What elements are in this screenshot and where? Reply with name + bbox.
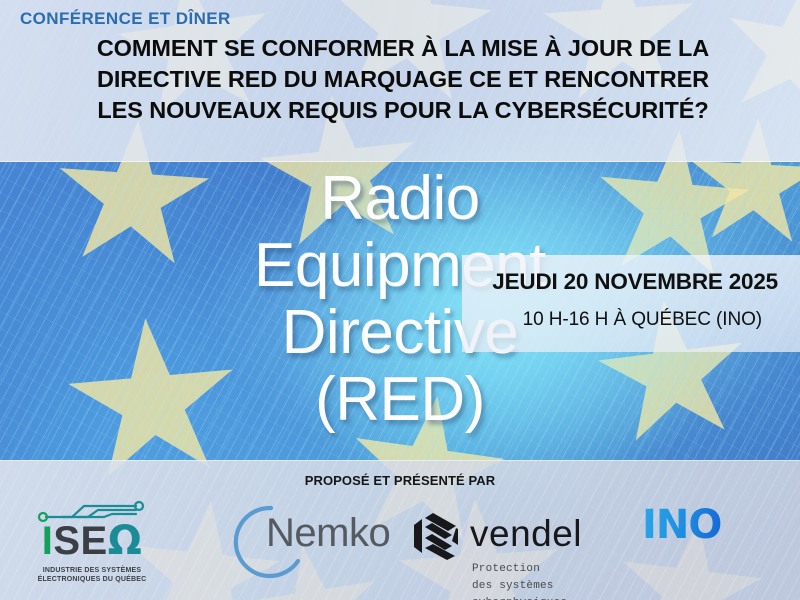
logo-iseq[interactable]: ISEΩ INDUSTRIE DES SYSTÈMES ÉLECTRONIQUE… bbox=[32, 497, 152, 585]
iseq-wordmark: ISEΩ bbox=[32, 521, 152, 561]
vendel-tagline-line-3: cyberphysiques bbox=[472, 595, 567, 600]
proposed-by-label: PROPOSÉ ET PRÉSENTÉ PAR bbox=[0, 473, 800, 488]
event-time-location: 10 H-16 H À QUÉBEC (INO) bbox=[462, 309, 762, 331]
kicker-label: CONFÉRENCE ET DÎNER bbox=[20, 9, 792, 29]
iseq-letter-i: I bbox=[42, 519, 54, 563]
vendel-tagline-line-2: des systèmes bbox=[472, 578, 567, 595]
headline-line-1: COMMENT SE CONFORMER À LA MISE À JOUR DE… bbox=[14, 33, 792, 64]
page-title: COMMENT SE CONFORMER À LA MISE À JOUR DE… bbox=[14, 33, 792, 125]
header-band: CONFÉRENCE ET DÎNER COMMENT SE CONFORMER… bbox=[0, 0, 800, 162]
vendel-hexagon-mark-icon bbox=[408, 509, 464, 565]
event-banner: CONFÉRENCE ET DÎNER COMMENT SE CONFORMER… bbox=[0, 0, 800, 600]
iseq-letters-se: SE bbox=[53, 519, 107, 563]
iseq-tagline-line-2: ÉLECTRONIQUES DU QUÉBEC bbox=[32, 575, 152, 584]
vendel-tagline-line-1: Protection bbox=[472, 561, 567, 578]
headline-line-3: LES NOUVEAUX REQUIS POUR LA CYBERSÉCURIT… bbox=[14, 95, 792, 126]
event-details-panel: JEUDI 20 NOVEMBRE 2025 10 H-16 H À QUÉBE… bbox=[462, 255, 800, 352]
headline-line-2: DIRECTIVE RED DU MARQUAGE CE ET RENCONTR… bbox=[14, 64, 792, 95]
iseq-omega-icon: Ω bbox=[108, 518, 143, 564]
ino-wordmark: INO bbox=[642, 505, 758, 545]
logo-nemko[interactable]: Nemko bbox=[232, 505, 402, 571]
logo-ino[interactable]: INO bbox=[642, 505, 758, 547]
event-date: JEUDI 20 NOVEMBRE 2025 bbox=[462, 269, 778, 295]
vendel-tagline: Protection des systèmes cyberphysiques bbox=[472, 561, 567, 600]
nemko-wordmark: Nemko bbox=[266, 513, 390, 553]
vendel-wordmark: vendel bbox=[470, 515, 582, 552]
iseq-tagline-line-1: INDUSTRIE DES SYSTÈMES bbox=[32, 566, 152, 575]
iseq-tagline: INDUSTRIE DES SYSTÈMES ÉLECTRONIQUES DU … bbox=[32, 566, 152, 585]
